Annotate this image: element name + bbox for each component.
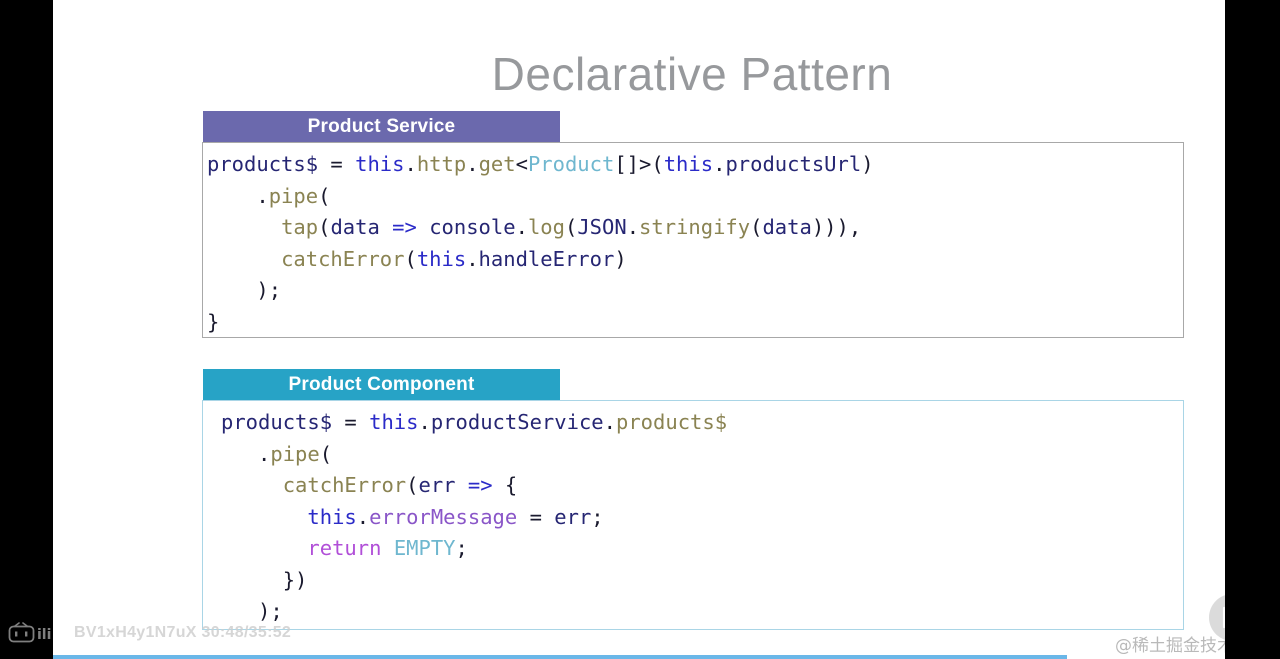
code-token: catchError — [281, 247, 404, 271]
code-token: get — [479, 152, 516, 176]
code-token: err — [554, 505, 591, 529]
code-token: ( — [565, 215, 577, 239]
code-token: handleError — [479, 247, 615, 271]
code-token — [221, 505, 307, 529]
code-token: err — [418, 473, 455, 497]
code-line: .pipe( — [221, 439, 1183, 471]
code-token: ( — [318, 215, 330, 239]
presentation-slide: Declarative Pattern Product Service prod… — [53, 0, 1225, 659]
code-token: = — [332, 410, 369, 434]
bilibili-logo-icon: ili — [8, 622, 70, 644]
code-token: ( — [320, 442, 332, 466]
code-line: this.errorMessage = err; — [221, 502, 1183, 534]
code-line: products$ = this.http.get<Product[]>(thi… — [207, 149, 1183, 181]
code-token: EMPTY — [394, 536, 456, 560]
code-token: ) — [861, 152, 873, 176]
svg-text:ili: ili — [37, 627, 51, 643]
code-token: = — [318, 152, 355, 176]
code-token: products$ — [221, 410, 332, 434]
code-token: ))), — [812, 215, 861, 239]
code-token: ( — [406, 473, 418, 497]
code-token: { — [493, 473, 518, 497]
code-token: console — [429, 215, 515, 239]
code-token: productService — [431, 410, 604, 434]
letterbox-left — [0, 0, 53, 659]
letterbox-right — [1225, 0, 1280, 659]
code-token — [381, 536, 393, 560]
code-token: products$ — [616, 410, 727, 434]
code-line: ); — [207, 275, 1183, 307]
code-token: errorMessage — [369, 505, 517, 529]
video-progress-bar[interactable] — [53, 655, 1225, 659]
code-token: products$ — [207, 152, 318, 176]
code-token: . — [466, 247, 478, 271]
code-token: tap — [281, 215, 318, 239]
code-line: catchError(err => { — [221, 470, 1183, 502]
code-token: . — [516, 215, 528, 239]
code-block-product-component: products$ = this.productService.products… — [202, 400, 1184, 630]
code-token: ); — [221, 599, 283, 623]
code-line: } — [207, 307, 1183, 339]
code-token: ( — [404, 247, 416, 271]
code-token: Product — [528, 152, 614, 176]
code-line: catchError(this.handleError) — [207, 244, 1183, 276]
video-player-frame: Declarative Pattern Product Service prod… — [0, 0, 1280, 659]
code-line: tap(data => console.log(JSON.stringify(d… — [207, 212, 1183, 244]
code-token: => — [468, 473, 493, 497]
code-token: ( — [318, 184, 330, 208]
code-token: ; — [456, 536, 468, 560]
code-token — [207, 215, 281, 239]
code-token: catchError — [283, 473, 406, 497]
code-token — [417, 215, 429, 239]
code-token: this — [417, 247, 466, 271]
code-token: = — [517, 505, 554, 529]
code-token: ); — [207, 278, 281, 302]
code-token: pipe — [270, 442, 319, 466]
code-token: pipe — [269, 184, 318, 208]
code-token: data — [330, 215, 379, 239]
code-token: stringify — [639, 215, 750, 239]
code-token: . — [357, 505, 369, 529]
page-title: Declarative Pattern — [106, 47, 1278, 101]
code-token — [456, 473, 468, 497]
code-token: . — [419, 410, 431, 434]
code-token: . — [207, 184, 269, 208]
code-token: ) — [614, 247, 626, 271]
code-token: return — [307, 536, 381, 560]
code-token: this — [369, 410, 418, 434]
code-block-product-service: products$ = this.http.get<Product[]>(thi… — [202, 142, 1184, 338]
code-token: . — [466, 152, 478, 176]
code-token: this — [664, 152, 713, 176]
code-token: . — [221, 442, 270, 466]
code-line: return EMPTY; — [221, 533, 1183, 565]
code-token: log — [528, 215, 565, 239]
code-token: JSON — [577, 215, 626, 239]
code-token: } — [207, 310, 219, 334]
code-token: productsUrl — [725, 152, 861, 176]
code-line: ); — [221, 596, 1183, 628]
code-line: products$ = this.productService.products… — [221, 407, 1183, 439]
code-token — [221, 473, 283, 497]
code-token: ; — [591, 505, 603, 529]
code-token: . — [713, 152, 725, 176]
code-token: . — [627, 215, 639, 239]
code-token: ( — [750, 215, 762, 239]
code-token: []>( — [614, 152, 663, 176]
code-token: => — [392, 215, 417, 239]
code-token: . — [604, 410, 616, 434]
section-header-product-component: Product Component — [203, 369, 560, 400]
code-token: this — [355, 152, 404, 176]
code-token: http — [417, 152, 466, 176]
code-token — [221, 536, 307, 560]
code-token: < — [516, 152, 528, 176]
section-header-product-service: Product Service — [203, 111, 560, 142]
code-token — [380, 215, 392, 239]
code-token: }) — [221, 568, 307, 592]
code-token: . — [405, 152, 417, 176]
code-line: }) — [221, 565, 1183, 597]
code-token: this — [307, 505, 356, 529]
video-progress-fill — [53, 655, 1067, 659]
code-token — [207, 247, 281, 271]
code-token: data — [762, 215, 811, 239]
video-id-and-timecode: BV1xH4y1N7uX 30:48/35:52 — [74, 624, 291, 642]
code-line: .pipe( — [207, 181, 1183, 213]
